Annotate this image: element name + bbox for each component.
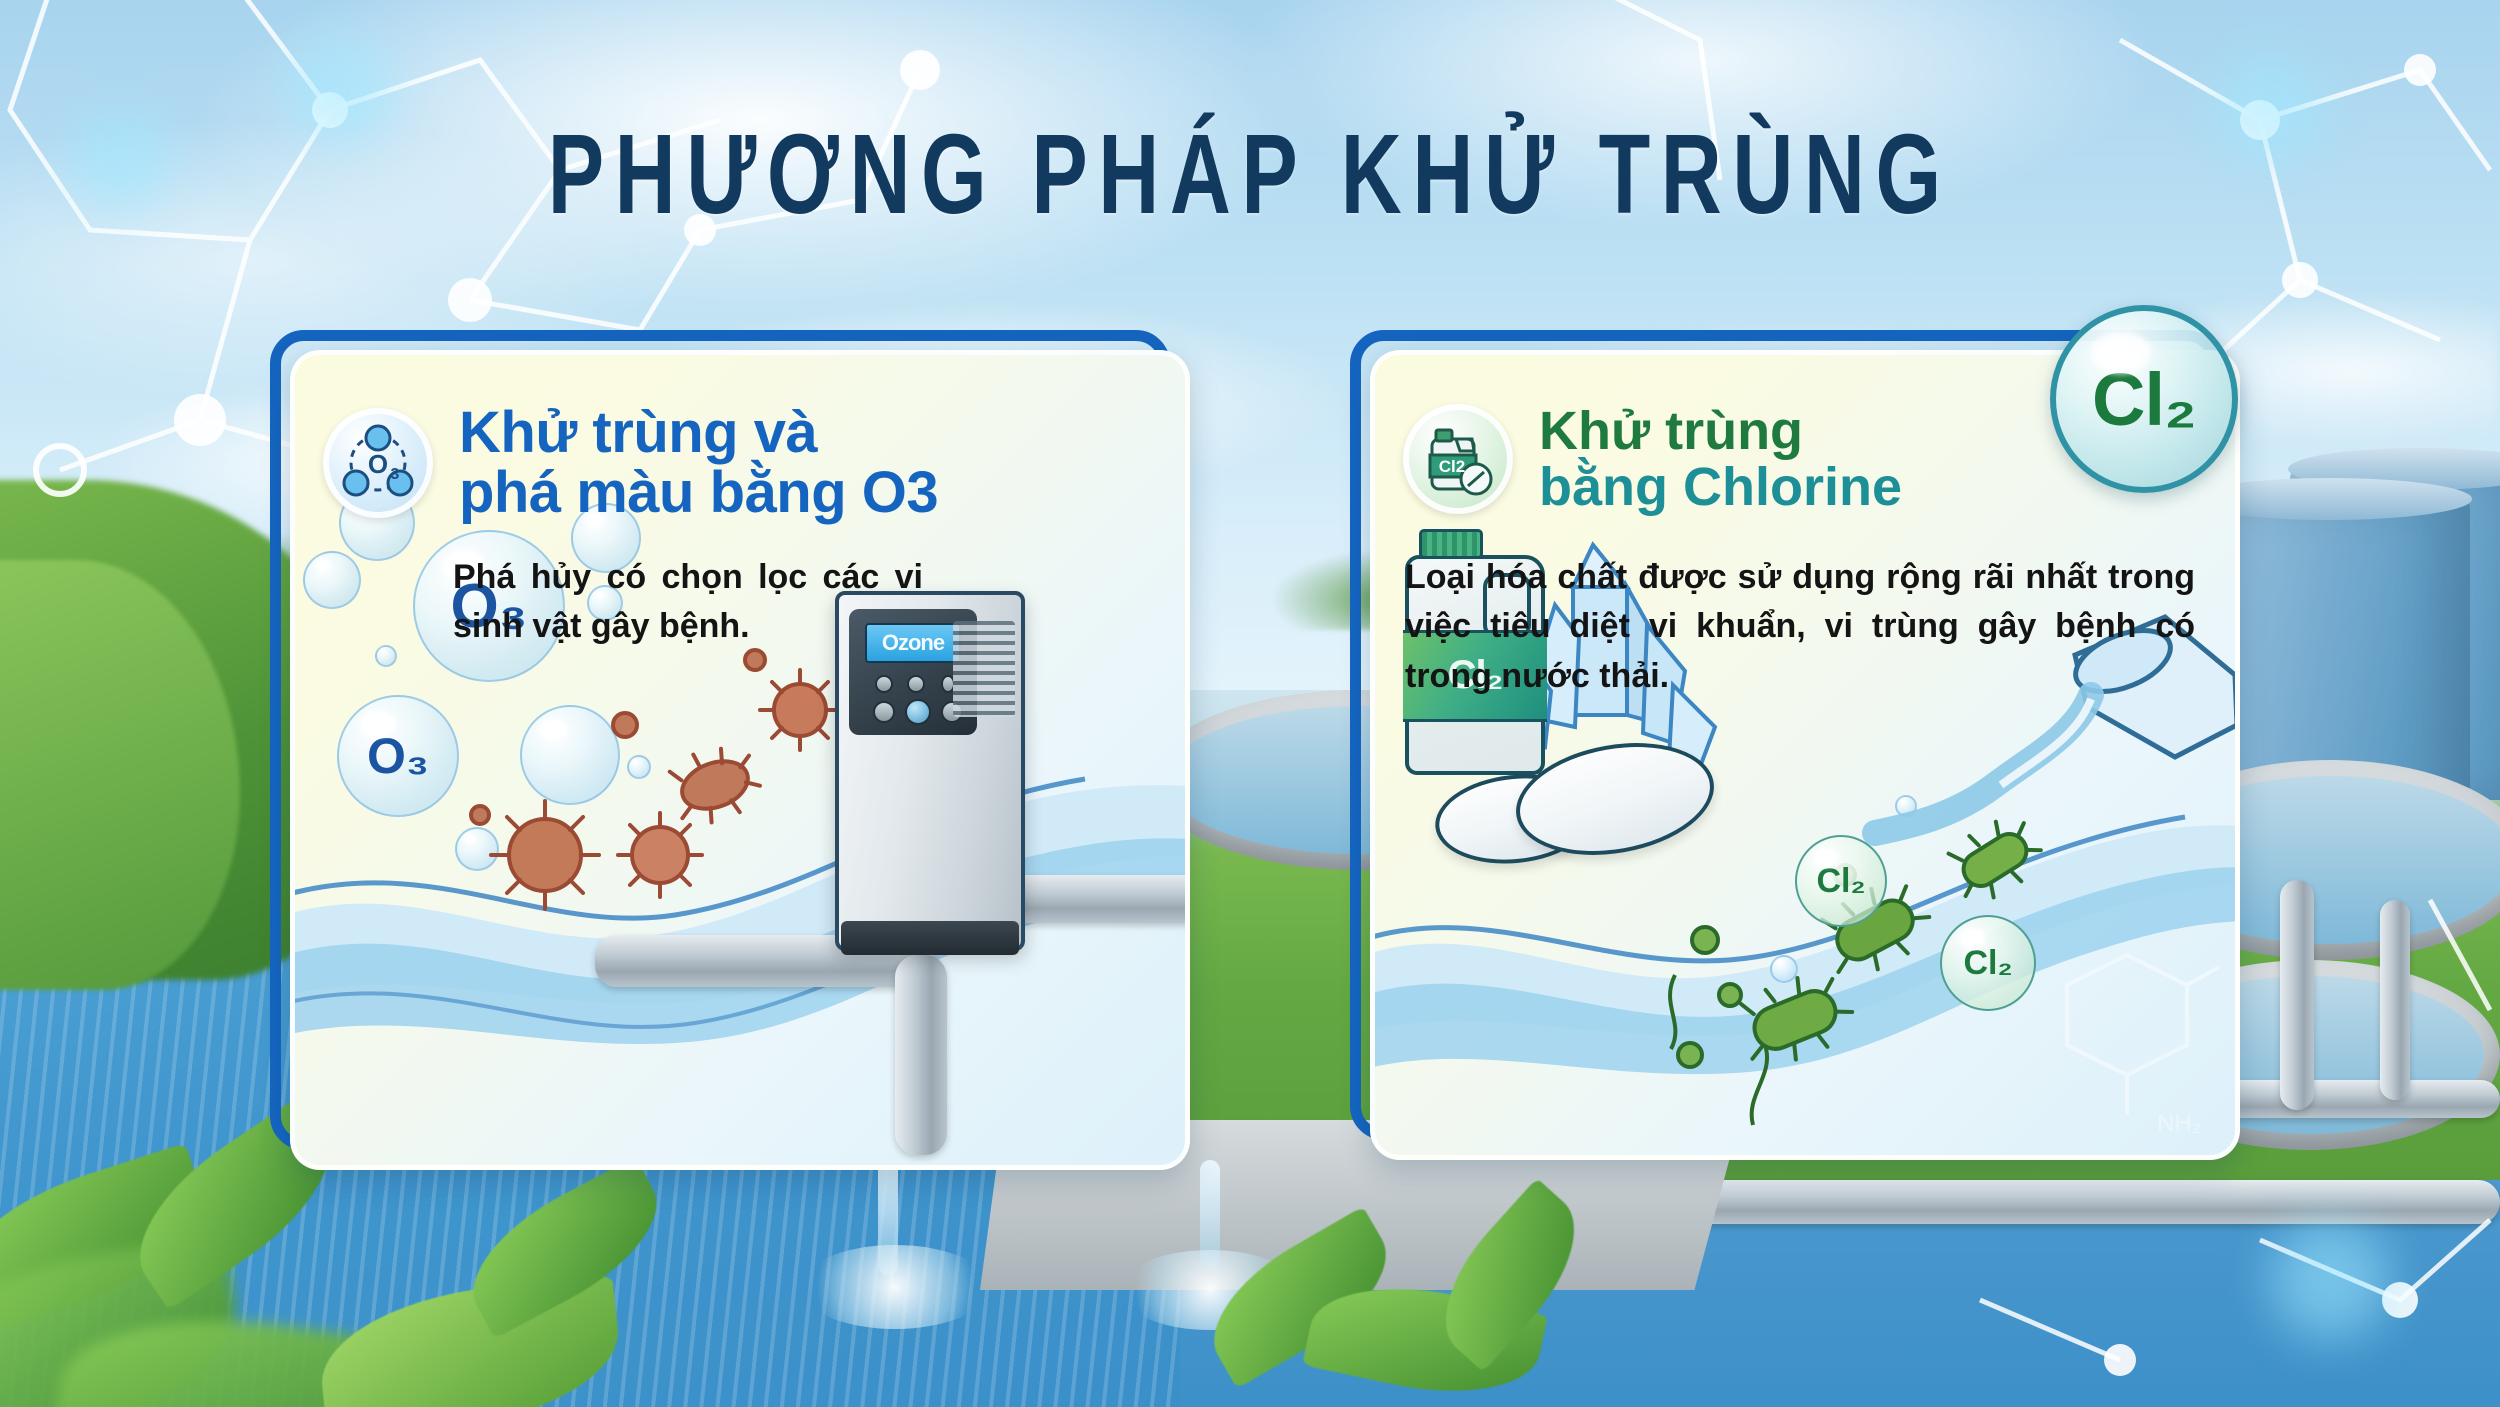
chlorine-bubble-label-1: Cl₂ <box>1797 837 1885 925</box>
bubble-decor-8 <box>627 755 651 779</box>
pipe-vertical-b <box>2380 900 2410 1100</box>
cl2-corner-badge-text: Cl₂ <box>2092 357 2196 442</box>
card-ozone-heading: Khử trùng và phá màu bằng O3 <box>459 403 938 524</box>
card-chlorine-body: Loại hóa chất được sử dụng rộng rãi nhất… <box>1405 553 2195 701</box>
cl2-corner-badge: Cl₂ <box>2050 305 2238 493</box>
ozone-pipe-left <box>595 935 935 987</box>
card-ozone-heading-line2: phá màu bằng O3 <box>459 463 938 523</box>
ozone-molecule-icon: O 3 <box>323 408 433 518</box>
page-title-text: PHƯƠNG PHÁP KHỬ TRÙNG <box>548 110 1952 240</box>
card-chlorine-heading: Khử trùng bằng Chlorine <box>1539 403 1902 515</box>
ozone-pipe-down <box>895 955 947 1155</box>
svg-text:3: 3 <box>391 466 400 483</box>
svg-text:O: O <box>368 449 388 479</box>
card-chlorine[interactable]: Cl₂ Cl₂ <box>1350 330 2240 1170</box>
bubble-decor-1 <box>303 551 361 609</box>
chlorine-bubble-label-2: Cl₂ <box>1942 917 2034 1009</box>
ozone-bubble-label-2: O₃ <box>339 697 457 815</box>
molecule-watermark: NH₂ <box>2007 945 2227 1145</box>
card-ozone-heading-line1: Khử trùng và <box>459 403 938 463</box>
generator-vent <box>953 621 1015 717</box>
card-chlorine-header: Cl2 Khử trùng bằng Chlorine <box>1403 403 1902 515</box>
chlorine-tablet-back <box>1431 767 1599 871</box>
generator-button-1 <box>875 675 893 693</box>
svg-text:Cl2: Cl2 <box>1439 457 1465 476</box>
generator-button-2 <box>907 675 925 693</box>
chlorine-jug-icon: Cl2 <box>1403 404 1513 514</box>
bubble-decor-c2 <box>1895 795 1917 817</box>
chlorine-tablet-front <box>1507 728 1723 869</box>
chlorine-bubble-2: Cl₂ <box>1940 915 2036 1011</box>
bubble-decor-5 <box>520 705 620 805</box>
bubble-decor-6 <box>455 827 499 871</box>
page-title: PHƯƠNG PHÁP KHỬ TRÙNG <box>0 120 2500 230</box>
pipe-vertical-a <box>2280 880 2314 1110</box>
card-chlorine-heading-line1: Khử trùng <box>1539 403 1902 459</box>
watermark-text: NH₂ <box>2157 1110 2201 1137</box>
ozone-pipe-right <box>995 875 1190 923</box>
chlorine-bubble-1: Cl₂ <box>1795 835 1887 927</box>
water-splash-left <box>800 1245 990 1329</box>
card-ozone-panel: O₃ O₃ <box>290 350 1190 1170</box>
card-ozone-body: Phá hủy có chọn lọc các vi sinh vật gây … <box>453 553 923 652</box>
generator-power-button <box>905 699 931 725</box>
generator-base <box>841 921 1019 955</box>
generator-button-6 <box>941 701 963 723</box>
generator-button-4 <box>873 701 895 723</box>
card-ozone-header: O 3 Khử trùng và phá màu bằng O3 <box>323 403 938 524</box>
foreground-plants-right <box>1180 1230 1600 1407</box>
ozone-bubble-medium: O₃ <box>337 695 459 817</box>
bubble-decor-c1 <box>1770 955 1798 983</box>
card-ozone[interactable]: O₃ O₃ <box>270 330 1190 1170</box>
bubble-decor-7 <box>375 645 397 667</box>
foreground-plants-left <box>0 1140 700 1407</box>
generator-button-3 <box>941 675 955 693</box>
card-chlorine-heading-line2: bằng Chlorine <box>1539 459 1902 515</box>
